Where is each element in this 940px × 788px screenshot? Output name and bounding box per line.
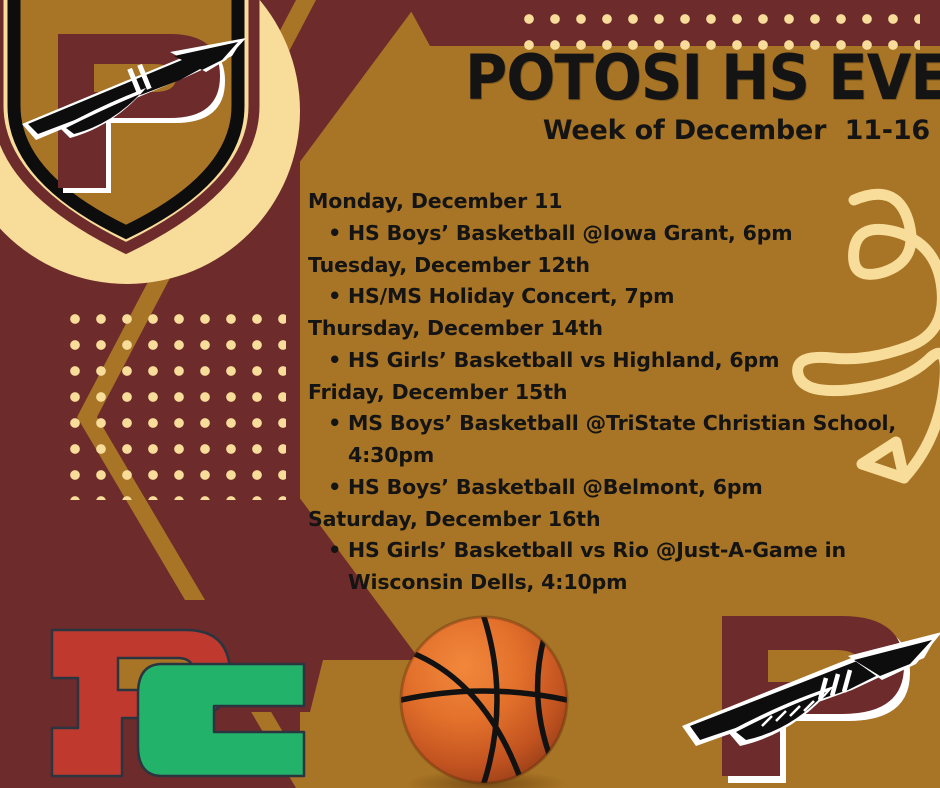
potosi-shield-icon xyxy=(0,0,284,256)
page-title: POTOSI HS EVENTS xyxy=(465,48,930,109)
potosi-p-spear-icon xyxy=(676,604,940,788)
basketball-icon xyxy=(394,612,580,788)
curly-arrow-icon xyxy=(792,178,940,518)
dot-pattern-left xyxy=(56,300,286,500)
schedule-item: HS Girls’ Basketball vs Rio @Just-A-Game… xyxy=(308,535,940,599)
schedule-item-list: HS Girls’ Basketball vs Rio @Just-A-Game… xyxy=(308,535,940,599)
page-subtitle: Week of December 11-16 xyxy=(430,115,930,146)
crest-badge xyxy=(0,0,334,298)
headline-block: POTOSI HS EVENTS Week of December 11-16 xyxy=(430,48,930,146)
poster-canvas: POTOSI HS EVENTS Week of December 11-16 … xyxy=(0,0,940,788)
pc-monogram-icon xyxy=(18,618,318,788)
